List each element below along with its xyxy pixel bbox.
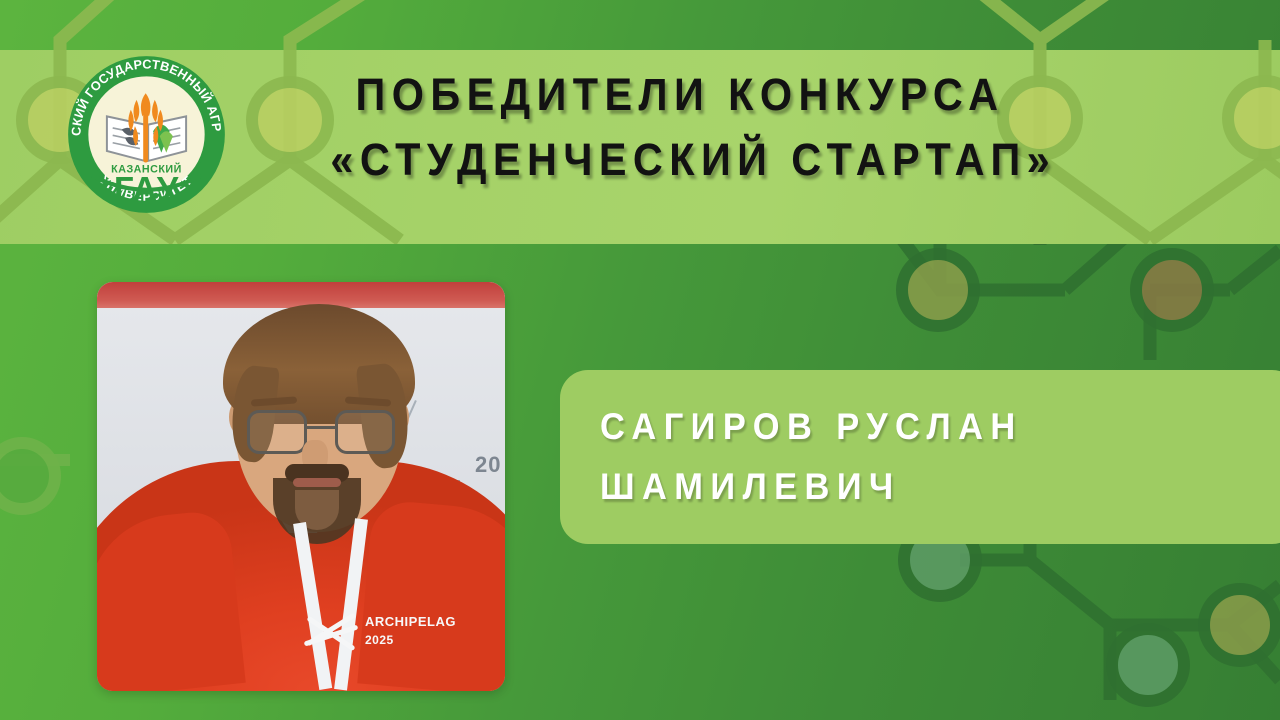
photo-backdrop-number: 20 xyxy=(475,452,501,478)
photo-person-mouth xyxy=(293,478,341,487)
winner-name-line-2: ШАМИЛЕВИЧ xyxy=(600,457,1251,517)
slide-canvas: КАЗАНСКИЙ ГОСУДАРСТВЕННЫЙ АГРАРНЫЙ УНИВЕ… xyxy=(0,0,1280,720)
winner-photo: 20 ARCHIPELAG 2025 xyxy=(97,282,505,691)
winner-name-plate: САГИРОВ РУСЛАН ШАМИЛЕВИЧ xyxy=(560,370,1280,544)
page-title-line-1: ПОБЕДИТЕЛИ КОНКУРСА xyxy=(356,69,1005,120)
university-logo: КАЗАНСКИЙ ГОСУДАРСТВЕННЫЙ АГРАРНЫЙ УНИВЕ… xyxy=(64,52,229,217)
photo-person-shoulder-left xyxy=(97,509,246,691)
shirt-logo-icon xyxy=(303,605,357,655)
glasses-bridge xyxy=(307,426,335,429)
shirt-brand-name: ARCHIPELAG xyxy=(365,614,456,629)
page-title-line-2: «СТУДЕНЧЕСКИЙ СТАРТАП» xyxy=(330,127,1029,192)
shirt-brand-text: ARCHIPELAG 2025 xyxy=(365,612,456,650)
glasses-lens-left xyxy=(247,410,307,454)
winner-name-line-1: САГИРОВ РУСЛАН xyxy=(600,397,1251,457)
shirt-brand-year: 2025 xyxy=(365,631,456,649)
photo-backdrop-red-strip xyxy=(97,282,505,308)
glasses-lens-right xyxy=(335,410,395,454)
photo-person-shoulder-right xyxy=(357,499,505,691)
page-title: ПОБЕДИТЕЛИ КОНКУРСА «СТУДЕНЧЕСКИЙ СТАРТА… xyxy=(330,62,1029,193)
